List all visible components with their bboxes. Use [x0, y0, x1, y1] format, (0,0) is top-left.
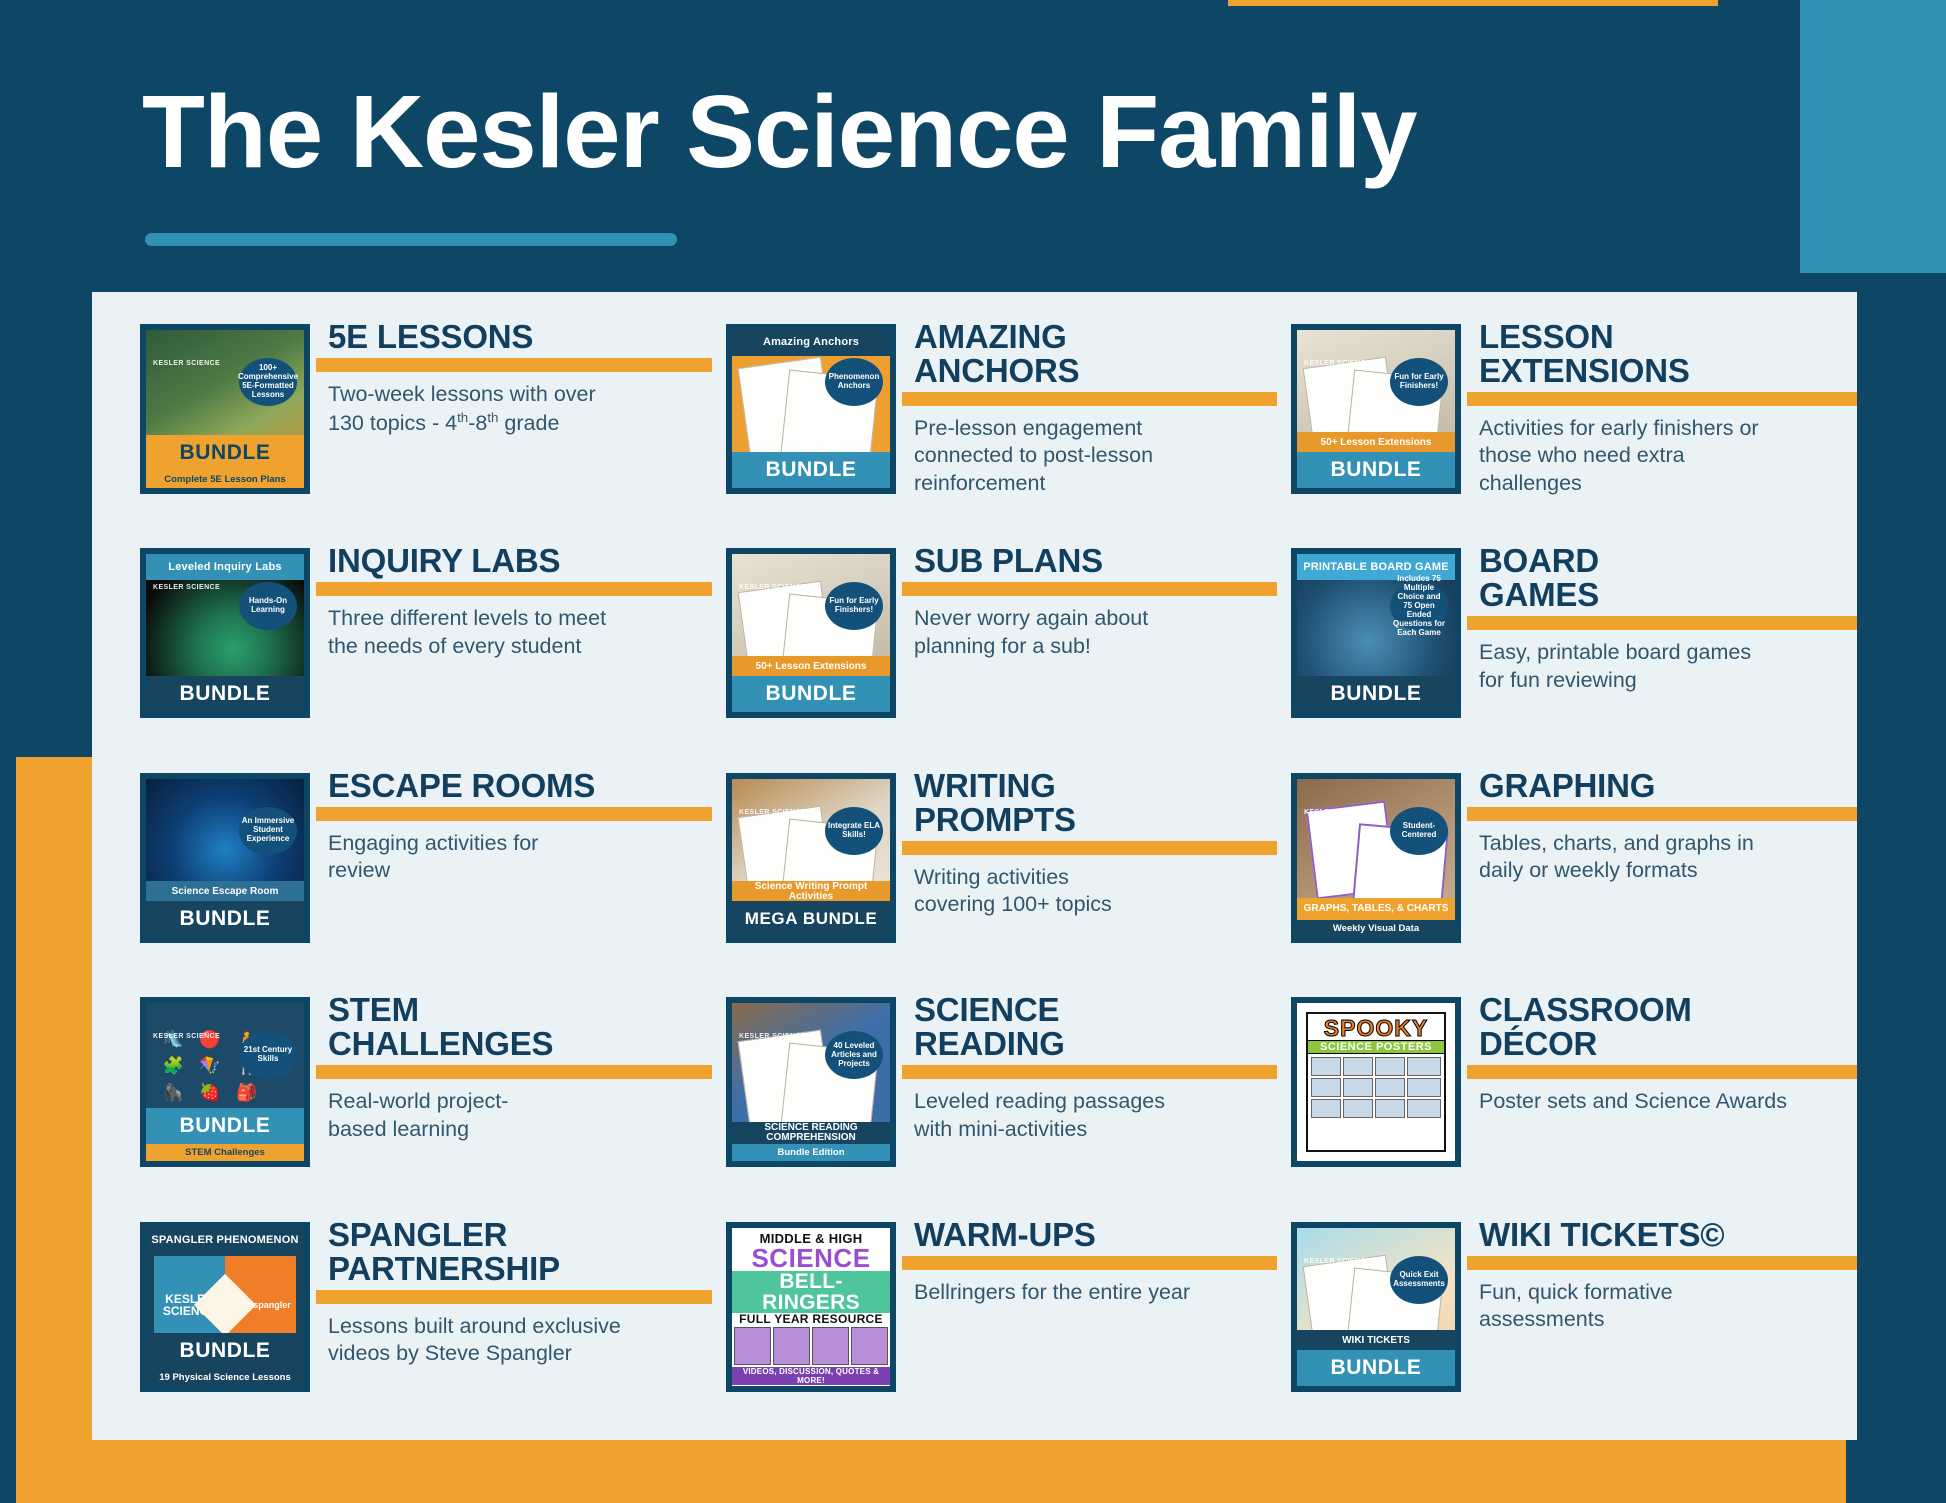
- product-card[interactable]: KESLER SCIENCEStudent-CenteredGRAPHS, TA…: [1277, 767, 1857, 991]
- product-text-block: CLASSROOM DÉCORPoster sets and Science A…: [1461, 991, 1857, 1115]
- product-card[interactable]: KESLER SCIENCEFun for Early Finishers!50…: [712, 542, 1277, 766]
- thumbnail-mid-band: Science Escape Room: [146, 881, 304, 903]
- title-accent-bar: [316, 1065, 712, 1079]
- product-text-block: SPANGLER PARTNERSHIPLessons built around…: [310, 1216, 712, 1368]
- kesler-science-logo: KESLER SCIENCE: [153, 1033, 220, 1040]
- product-description: Bellringers for the entire year: [914, 1279, 1277, 1307]
- product-text-block: ESCAPE ROOMSEngaging activities for revi…: [310, 767, 712, 885]
- thumbnail-badge: 21st Century Skills: [239, 1031, 297, 1079]
- product-card[interactable]: KESLER SCIENCEFun for Early Finishers!50…: [1277, 318, 1857, 542]
- product-title: WARM-UPS: [914, 1218, 1277, 1252]
- thumbnail-bundle-band: MEGA BUNDLE: [732, 901, 890, 937]
- thumbnail-mid-band: GRAPHS, TABLES, & CHARTS: [1297, 898, 1455, 920]
- thumbnail-bundle-band: BUNDLE: [1297, 1350, 1455, 1386]
- thumbnail-sub-band: Weekly Visual Data: [1297, 920, 1455, 937]
- product-description: Pre-lesson engagement connected to post-…: [914, 415, 1277, 498]
- thumbnail-badge: 40 Leveled Articles and Projects: [825, 1031, 883, 1079]
- thumbnail-sub-band: Bundle Edition: [732, 1144, 890, 1161]
- thumbnail-bundle-band: BUNDLE: [146, 901, 304, 937]
- product-title: STEM CHALLENGES: [328, 993, 712, 1061]
- bellringers-tile: [773, 1327, 810, 1365]
- thumbnail-badge: Includes 75 Multiple Choice and 75 Open …: [1390, 582, 1448, 630]
- poster-tile: [1407, 1099, 1441, 1118]
- thumbnail-top-band: SPANGLER PHENOMENON: [146, 1228, 304, 1254]
- poster-tile: [1407, 1078, 1441, 1097]
- poster-tile: [1311, 1078, 1341, 1097]
- thumbnail-mid-band: 50+ Lesson Extensions: [732, 656, 890, 678]
- product-text-block: SCIENCE READINGLeveled reading passages …: [896, 991, 1277, 1143]
- product-text-block: INQUIRY LABSThree different levels to me…: [310, 542, 712, 660]
- title-accent-bar: [316, 358, 712, 372]
- poster-tile: [1343, 1057, 1373, 1076]
- product-description: Leveled reading passages with mini-activ…: [914, 1088, 1277, 1143]
- kesler-science-logo: KESLER SCIENCE: [153, 360, 220, 367]
- kesler-science-logo: KESLER SCIENCE: [739, 1033, 806, 1040]
- product-card[interactable]: KESLER SCIENCELeveled Inquiry LabsHands-…: [92, 542, 712, 766]
- kesler-science-logo: KESLER SCIENCE: [1304, 1258, 1371, 1265]
- title-accent-bar: [1467, 1065, 1857, 1079]
- product-description: Activities for early finishers or those …: [1479, 415, 1857, 498]
- product-thumbnail[interactable]: KESLER SCIENCELeveled Inquiry LabsHands-…: [140, 548, 310, 718]
- thumbnail-badge: Quick Exit Assessments: [1390, 1256, 1448, 1304]
- product-card[interactable]: KESLER SCIENCE40 Leveled Articles and Pr…: [712, 991, 1277, 1215]
- bellringers-tile-grid: [732, 1325, 890, 1367]
- poster-preview: SPOOKYSCIENCE POSTERS: [1306, 1012, 1446, 1152]
- product-title: 5E LESSONS: [328, 320, 712, 354]
- product-thumbnail[interactable]: KESLER SCIENCEFun for Early Finishers!50…: [1291, 324, 1461, 494]
- title-accent-bar: [1467, 616, 1857, 630]
- bellringers-cover: MIDDLE & HIGHSCIENCEBELL-RINGERSFULL YEA…: [732, 1228, 890, 1386]
- title-accent-bar: [902, 841, 1277, 855]
- product-description: Real-world project- based learning: [328, 1088, 712, 1143]
- thumbnail-bundle-band: BUNDLE: [732, 452, 890, 488]
- title-accent-bar: [902, 582, 1277, 596]
- product-title: AMAZING ANCHORS: [914, 320, 1277, 388]
- product-text-block: AMAZING ANCHORSPre-lesson engagement con…: [896, 318, 1277, 498]
- product-description: Never worry again about planning for a s…: [914, 605, 1277, 660]
- thumbnail-bundle-band: BUNDLE: [146, 676, 304, 712]
- product-grid: KESLER SCIENCE100+ Comprehensive 5E-Form…: [92, 292, 1857, 1440]
- product-card[interactable]: KESLER SCIENCEQuick Exit AssessmentsWIKI…: [1277, 1216, 1857, 1440]
- bellringers-tile: [812, 1327, 849, 1365]
- poster-tile: [1407, 1057, 1441, 1076]
- product-title: BOARD GAMES: [1479, 544, 1857, 612]
- poster-header: The Kesler Science Family: [0, 0, 1946, 292]
- product-text-block: BOARD GAMESEasy, printable board games f…: [1461, 542, 1857, 694]
- bellringers-line3: BELL-RINGERS: [732, 1271, 890, 1313]
- poster-tile: [1343, 1078, 1373, 1097]
- thumbnail-top-band: Amazing Anchors: [732, 330, 890, 356]
- thumbnail-bundle-band: BUNDLE: [146, 435, 304, 471]
- product-card[interactable]: An Immersive Student ExperienceScience E…: [92, 767, 712, 991]
- poster-tile: [1375, 1078, 1405, 1097]
- poster-tile: [1311, 1099, 1341, 1118]
- product-card[interactable]: SPOOKYSCIENCE POSTERSCLASSROOM DÉCORPost…: [1277, 991, 1857, 1215]
- product-text-block: STEM CHALLENGESReal-world project- based…: [310, 991, 712, 1143]
- poster-root: The Kesler Science Family KESLER SCIENCE…: [0, 0, 1946, 1503]
- thumbnail-badge: Student-Centered: [1390, 807, 1448, 855]
- product-title: CLASSROOM DÉCOR: [1479, 993, 1857, 1061]
- product-description: Tables, charts, and graphs in daily or w…: [1479, 830, 1857, 885]
- product-description: Poster sets and Science Awards: [1479, 1088, 1857, 1116]
- thumbnail-sub-band: Complete 5E Lesson Plans: [146, 471, 304, 488]
- product-card[interactable]: KESLER SCIENCE100+ Comprehensive 5E-Form…: [92, 318, 712, 542]
- product-card[interactable]: Amazing AnchorsPhenomenon AnchorsBUNDLEA…: [712, 318, 1277, 542]
- title-accent-bar: [1467, 392, 1857, 406]
- product-thumbnail[interactable]: KESLER SCIENCEFun for Early Finishers!50…: [726, 548, 896, 718]
- product-description: Three different levels to meet the needs…: [328, 605, 712, 660]
- thumbnail-top-band: Leveled Inquiry Labs: [146, 554, 304, 580]
- stem-challenge-icon: 🧩: [156, 1054, 191, 1079]
- title-accent-bar: [1467, 807, 1857, 821]
- product-thumbnail[interactable]: An Immersive Student ExperienceScience E…: [140, 773, 310, 943]
- thumbnail-mid-band: Science Writing Prompt Activities: [732, 881, 890, 903]
- product-thumbnail[interactable]: Amazing AnchorsPhenomenon AnchorsBUNDLE: [726, 324, 896, 494]
- product-title: SPANGLER PARTNERSHIP: [328, 1218, 712, 1286]
- title-accent-bar: [316, 582, 712, 596]
- product-card[interactable]: 🛝🔴🧍🧩🪁🍴🦍🍓🎒🏛🌳🔑KESLER SCIENCE21st Century S…: [92, 991, 712, 1215]
- product-title: INQUIRY LABS: [328, 544, 712, 578]
- thumbnail-bundle-band: BUNDLE: [1297, 452, 1455, 488]
- thumbnail-sub-band: 19 Physical Science Lessons: [146, 1369, 304, 1386]
- product-thumbnail[interactable]: KESLER SCIENCEStudent-CenteredGRAPHS, TA…: [1291, 773, 1461, 943]
- title-accent-bar: [902, 1256, 1277, 1270]
- thumbnail-mid-band: WIKI TICKETS: [1297, 1330, 1455, 1352]
- poster-tile: [1375, 1057, 1405, 1076]
- title-accent-bar: [316, 1290, 712, 1304]
- product-thumbnail[interactable]: 🛝🔴🧍🧩🪁🍴🦍🍓🎒🏛🌳🔑KESLER SCIENCE21st Century S…: [140, 997, 310, 1167]
- bellringers-tile: [851, 1327, 888, 1365]
- poster-title-spooky: SPOOKY: [1308, 1017, 1444, 1040]
- product-title: WRITING PROMPTS: [914, 769, 1277, 837]
- content-panel: KESLER SCIENCE100+ Comprehensive 5E-Form…: [92, 292, 1857, 1440]
- product-title: GRAPHING: [1479, 769, 1857, 803]
- title-accent-bar: [902, 1065, 1277, 1079]
- product-description: Writing activities covering 100+ topics: [914, 864, 1277, 919]
- product-thumbnail[interactable]: KESLER SCIENCEQuick Exit AssessmentsWIKI…: [1291, 1222, 1461, 1392]
- poster-tile: [1375, 1099, 1405, 1118]
- thumbnail-badge: Fun for Early Finishers!: [1390, 358, 1448, 406]
- thumbnail-badge: Integrate ELA Skills!: [825, 807, 883, 855]
- product-description: Easy, printable board games for fun revi…: [1479, 639, 1857, 694]
- thumbnail-badge: Phenomenon Anchors: [825, 358, 883, 406]
- product-text-block: WARM-UPSBellringers for the entire year: [896, 1216, 1277, 1307]
- thumbnail-bundle-band: BUNDLE: [146, 1108, 304, 1144]
- poster-tile: [1311, 1057, 1341, 1076]
- thumbnail-mid-band: 50+ Lesson Extensions: [1297, 432, 1455, 454]
- product-card[interactable]: MIDDLE & HIGHSCIENCEBELL-RINGERSFULL YEA…: [712, 1216, 1277, 1440]
- title-accent-bar: [316, 807, 712, 821]
- bellringers-tile: [734, 1327, 771, 1365]
- product-description: Lessons built around exclusive videos by…: [328, 1313, 712, 1368]
- product-title: WIKI TICKETS©: [1479, 1218, 1857, 1252]
- product-thumbnail[interactable]: SPOOKYSCIENCE POSTERS: [1291, 997, 1461, 1167]
- thumbnail-badge: An Immersive Student Experience: [239, 807, 297, 855]
- product-title: SUB PLANS: [914, 544, 1277, 578]
- product-thumbnail[interactable]: KESLER SCIENCE100+ Comprehensive 5E-Form…: [140, 324, 310, 494]
- product-description: Fun, quick formative assessments: [1479, 1279, 1857, 1334]
- poster-tile-grid: [1308, 1054, 1444, 1121]
- product-card[interactable]: PRINTABLE BOARD GAMEIncludes 75 Multiple…: [1277, 542, 1857, 766]
- page-title: The Kesler Science Family: [142, 80, 1417, 183]
- kesler-science-logo: KESLER SCIENCE: [1304, 360, 1371, 367]
- stem-challenge-icon: 🎒: [229, 1080, 264, 1105]
- bellringers-footer: VIDEOS, DISCUSSION, QUOTES & MORE!: [732, 1367, 890, 1385]
- stem-challenge-icon: 🦍: [156, 1080, 191, 1105]
- title-accent-bar: [902, 392, 1277, 406]
- kesler-science-logo: KESLER SCIENCE: [739, 584, 806, 591]
- product-text-block: GRAPHINGTables, charts, and graphs in da…: [1461, 767, 1857, 885]
- stem-challenge-icon: 🍓: [193, 1080, 228, 1105]
- thumbnail-mid-band: SCIENCE READING COMPREHENSION: [732, 1122, 890, 1144]
- product-title: ESCAPE ROOMS: [328, 769, 712, 803]
- stem-challenge-icon: 🪁: [193, 1054, 228, 1079]
- product-description: Engaging activities for review: [328, 830, 712, 885]
- product-title: SCIENCE READING: [914, 993, 1277, 1061]
- bellringers-line4: FULL YEAR RESOURCE: [732, 1313, 890, 1325]
- product-card[interactable]: KESLER SCIENCEIntegrate ELA Skills!Scien…: [712, 767, 1277, 991]
- product-thumbnail[interactable]: KESLER SCIENCEstevespanglerSPANGLER PHEN…: [140, 1222, 310, 1392]
- title-underline: [145, 233, 677, 246]
- product-text-block: LESSON EXTENSIONSActivities for early fi…: [1461, 318, 1857, 498]
- product-thumbnail[interactable]: PRINTABLE BOARD GAMEIncludes 75 Multiple…: [1291, 548, 1461, 718]
- thumbnail-bundle-band: BUNDLE: [1297, 676, 1455, 712]
- product-title: LESSON EXTENSIONS: [1479, 320, 1857, 388]
- kesler-science-logo: KESLER SCIENCE: [739, 809, 806, 816]
- product-text-block: SUB PLANSNever worry again about plannin…: [896, 542, 1277, 660]
- kesler-science-logo: KESLER SCIENCE: [153, 584, 220, 591]
- thumbnail-bundle-band: BUNDLE: [732, 676, 890, 712]
- title-accent-bar: [1467, 1256, 1857, 1270]
- thumbnail-bundle-band: BUNDLE: [146, 1333, 304, 1369]
- product-text-block: 5E LESSONSTwo-week lessons with over 130…: [310, 318, 712, 437]
- poster-tile: [1343, 1099, 1373, 1118]
- product-text-block: WRITING PROMPTSWriting activities coveri…: [896, 767, 1277, 919]
- product-thumbnail[interactable]: KESLER SCIENCE40 Leveled Articles and Pr…: [726, 997, 896, 1167]
- product-thumbnail[interactable]: KESLER SCIENCEIntegrate ELA Skills!Scien…: [726, 773, 896, 943]
- product-card[interactable]: KESLER SCIENCEstevespanglerSPANGLER PHEN…: [92, 1216, 712, 1440]
- thumbnail-sub-band: STEM Challenges: [146, 1144, 304, 1161]
- product-thumbnail[interactable]: MIDDLE & HIGHSCIENCEBELL-RINGERSFULL YEA…: [726, 1222, 896, 1392]
- kesler-science-logo: KESLER SCIENCE: [1304, 809, 1371, 816]
- thumbnail-badge: 100+ Comprehensive 5E-Formatted Lessons: [239, 358, 297, 406]
- poster-subtitle: SCIENCE POSTERS: [1308, 1040, 1444, 1054]
- product-text-block: WIKI TICKETS©Fun, quick formative assess…: [1461, 1216, 1857, 1334]
- product-description: Two-week lessons with over 130 topics - …: [328, 381, 712, 437]
- bellringers-line2: SCIENCE: [732, 1245, 890, 1271]
